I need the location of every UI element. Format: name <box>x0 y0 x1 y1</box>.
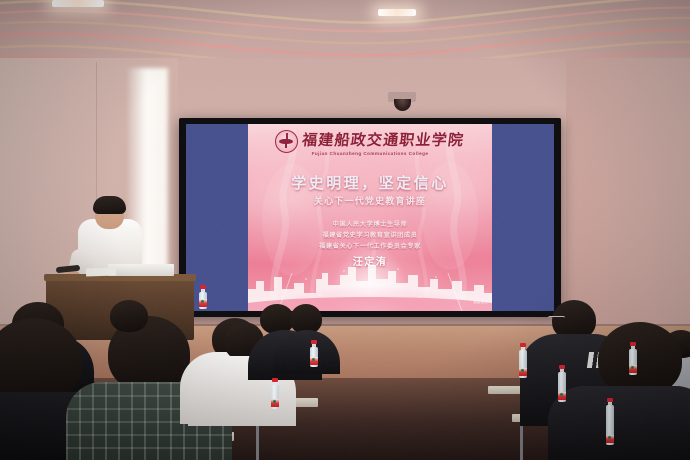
credential-line: 福建省党史学习教育宣讲团成员 <box>248 230 492 239</box>
school-name-cn: 福建船政交通职业学院 <box>302 134 466 149</box>
bottle-label <box>310 357 318 365</box>
ceiling-light <box>378 9 416 16</box>
papers <box>86 267 116 276</box>
audience-shoulders <box>548 386 690 460</box>
bottle-label <box>606 435 614 443</box>
water-bottle <box>199 285 207 309</box>
bottle-body <box>271 385 279 409</box>
bottle-label <box>558 392 566 400</box>
slide-subtitle: 关心下一代党史教育讲座 <box>248 194 492 207</box>
laptop <box>108 264 174 276</box>
ceiling-wave-pattern <box>0 0 690 66</box>
presentation-slide: 福建船政交通职业学院 Fujian Chuanzheng Communicati… <box>248 124 492 311</box>
screen-panel: 福建船政交通职业学院 Fujian Chuanzheng Communicati… <box>186 124 554 311</box>
bottle-label <box>199 299 207 307</box>
bottle-label <box>271 399 279 407</box>
school-name-en: Fujian Chuanzheng Communications College <box>248 151 492 156</box>
city-skyline-graphic <box>248 255 492 311</box>
slide-header: 福建船政交通职业学院 <box>248 130 492 153</box>
audience-head <box>110 300 148 332</box>
ceiling <box>0 0 690 66</box>
audience-head <box>598 322 682 396</box>
bottle-body <box>519 350 527 378</box>
glasses-icon <box>548 316 565 321</box>
slide-title: 学史明理，坚定信心 <box>248 172 492 193</box>
bottle-body <box>558 372 566 402</box>
emblem-spoke <box>286 133 287 139</box>
bottle-body <box>310 347 318 367</box>
right-wall <box>566 58 690 326</box>
led-screen: 福建船政交通职业学院 Fujian Chuanzheng Communicati… <box>179 118 561 317</box>
college-emblem-icon <box>275 130 298 153</box>
bottle-body <box>199 292 207 309</box>
lecture-hall-photo: 福建船政交通职业学院 Fujian Chuanzheng Communicati… <box>0 0 690 460</box>
credential-line: 中国人民大学博士生导师 <box>248 219 492 228</box>
bottle-label <box>519 368 527 376</box>
bottle-body <box>629 349 637 375</box>
ceiling-light <box>52 0 104 7</box>
presenter-hair <box>93 196 126 214</box>
bottle-label <box>629 365 637 373</box>
credential-line: 福建省关心下一代工作委员会专家 <box>248 241 492 250</box>
bottle-body <box>606 405 614 445</box>
slide-corner-tag: 福建船政 <box>473 299 488 304</box>
